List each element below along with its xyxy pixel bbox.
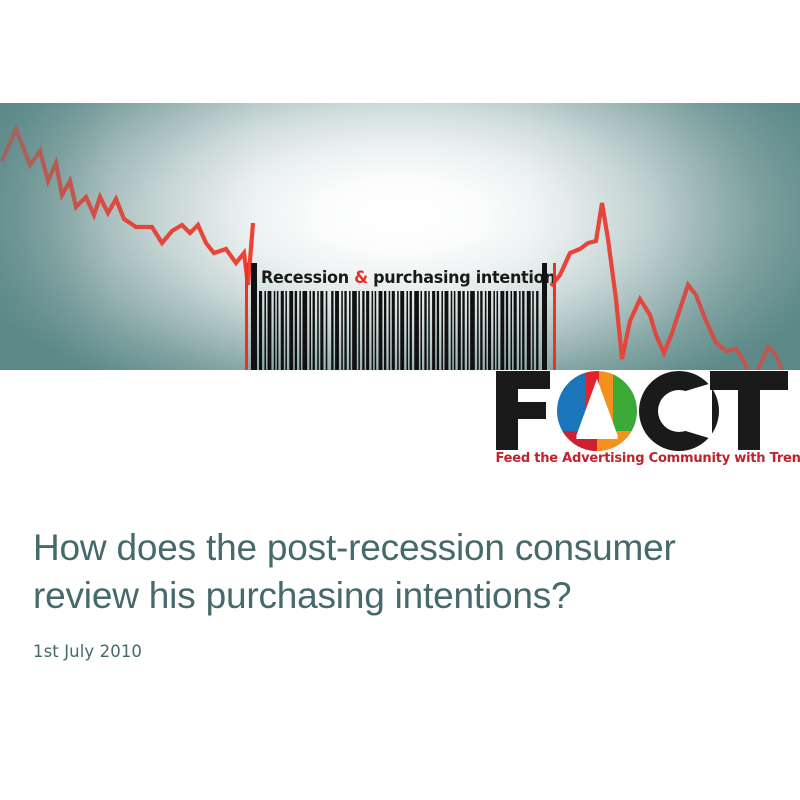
page-title-line-1: How does the post-recession consumer: [33, 527, 676, 568]
logo-letter-f: [496, 371, 550, 450]
fact-wordmark: [494, 369, 790, 452]
page-title: How does the post-recession consumerrevi…: [33, 524, 763, 620]
fact-tagline: Feed the Advertising Community with Tren…: [495, 451, 788, 466]
logo-letter-a-pie-chart: [557, 371, 637, 451]
barcode-graphic: Recession & purchasing intention: [243, 263, 558, 370]
page-title-line-2: review his purchasing intentions?: [33, 575, 571, 616]
barcode-guard-bars: [243, 263, 558, 370]
fact-logo: Feed the Advertising Community with Tren…: [494, 369, 790, 479]
header-banner-image: Recession & purchasing intention: [0, 103, 800, 370]
slide-date: 1st July 2010: [33, 642, 763, 661]
title-block: How does the post-recession consumerrevi…: [33, 524, 763, 661]
logo-letter-t: [710, 371, 788, 450]
